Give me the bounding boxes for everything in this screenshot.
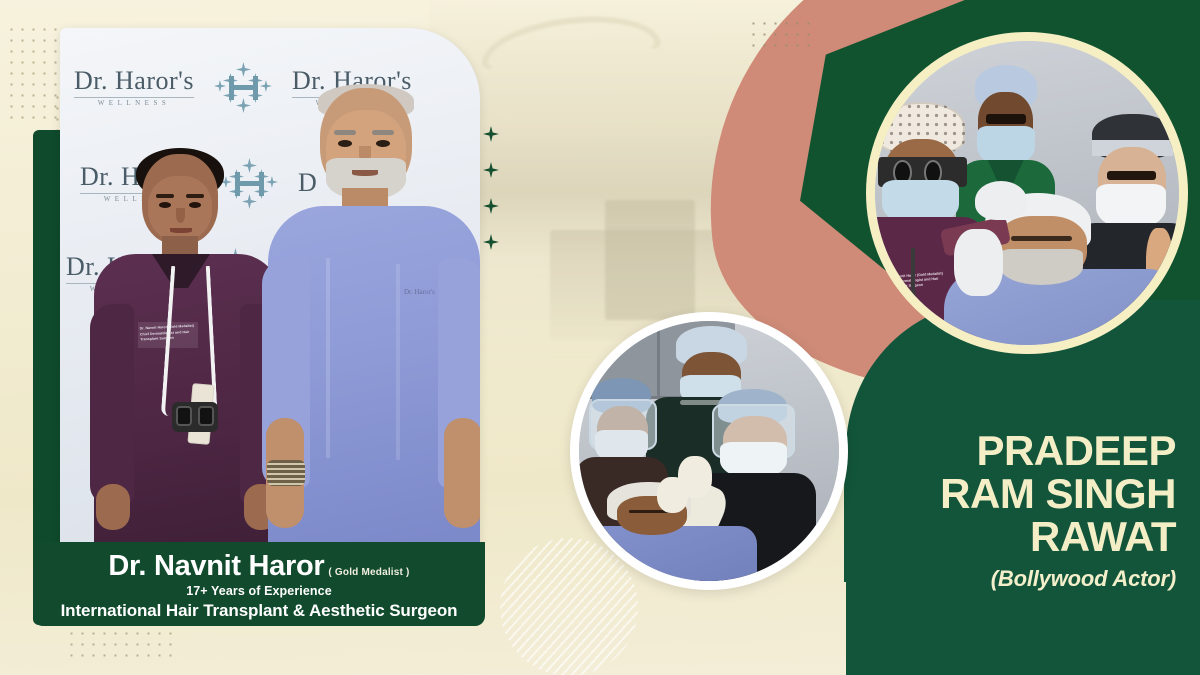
actor-subtitle: (Bollywood Actor) — [824, 566, 1176, 592]
promotional-poster: Dr. Haror's WELLNESS Dr. Haror's WELLNES… — [0, 0, 1200, 675]
haror-h-monogram-icon — [220, 64, 266, 110]
dot-grid-icon — [748, 18, 818, 52]
gown-fold — [326, 258, 330, 458]
doctor-eyebrow-right — [186, 194, 204, 198]
patient-figure: Dr. Haror's — [268, 88, 480, 550]
doctor-name: Dr. Navnit Haror — [108, 551, 324, 581]
doctor-mouth — [170, 228, 192, 233]
gloved-hand — [657, 477, 688, 513]
patient-eye-right — [376, 140, 390, 147]
doctor-nose — [176, 208, 185, 223]
hair-transplant-procedure-photo — [570, 312, 848, 590]
actor-name-block: PRADEEP RAM SINGH RAWAT (Bollywood Actor… — [824, 430, 1176, 592]
doctor-arm-left — [90, 304, 134, 504]
patient-beard — [1000, 249, 1083, 285]
patient-mouth — [352, 170, 378, 176]
backdrop-logo: Dr. Haror's WELLNESS — [74, 68, 194, 107]
patient-eye-left — [338, 140, 352, 147]
doctor-eye-right — [189, 202, 201, 208]
patient-forearm-right — [444, 418, 480, 528]
gown-fold — [396, 264, 400, 460]
gloved-hand — [954, 229, 1003, 296]
doctor-experience: 17+ Years of Experience — [33, 584, 485, 598]
patient-drape — [570, 526, 757, 590]
surgical-loupe-lens-left — [176, 406, 192, 426]
ceiling-swoosh-shape — [478, 7, 663, 77]
doctor-figure: Dr. Navnit Haror (Gold Medalist) Chief D… — [94, 154, 280, 550]
dot-grid-icon — [66, 628, 178, 662]
patient-bracelet — [267, 460, 305, 486]
nurse-center-eyes — [986, 114, 1026, 123]
patient-eyebrow-right — [372, 130, 394, 135]
treatment-team-photo: Dr. Navnit Haror (Gold Medalist) Chief D… — [866, 32, 1188, 354]
assistant-right-eyes — [1107, 171, 1157, 180]
doctor-nameplate: Dr. Navnit Haror( Gold Medalist ) 17+ Ye… — [33, 542, 485, 626]
doctor-credential: ( Gold Medalist ) — [328, 567, 409, 578]
actor-name-line-1: PRADEEP — [824, 430, 1176, 473]
patient-eyebrow-left — [334, 130, 356, 135]
gown-logo: Dr. Haror's — [404, 288, 435, 296]
doctor-eyebrow-left — [156, 194, 174, 198]
gloved-hand — [975, 181, 1027, 221]
patient-eyes — [1011, 236, 1071, 241]
actor-name-line-3: RAWAT — [824, 516, 1176, 559]
doctor-eye-left — [159, 202, 171, 208]
nameplate-name-row: Dr. Navnit Haror( Gold Medalist ) — [33, 551, 485, 581]
doctor-hand-left — [96, 484, 130, 530]
surgical-loupe-lens-right — [198, 406, 214, 426]
doctor-and-patient-photo: Dr. Haror's WELLNESS Dr. Haror's WELLNES… — [60, 28, 480, 550]
actor-name-line-2: RAM SINGH — [824, 473, 1176, 516]
reception-counter-box — [605, 200, 695, 320]
doctor-role: International Hair Transplant & Aestheti… — [33, 601, 485, 621]
